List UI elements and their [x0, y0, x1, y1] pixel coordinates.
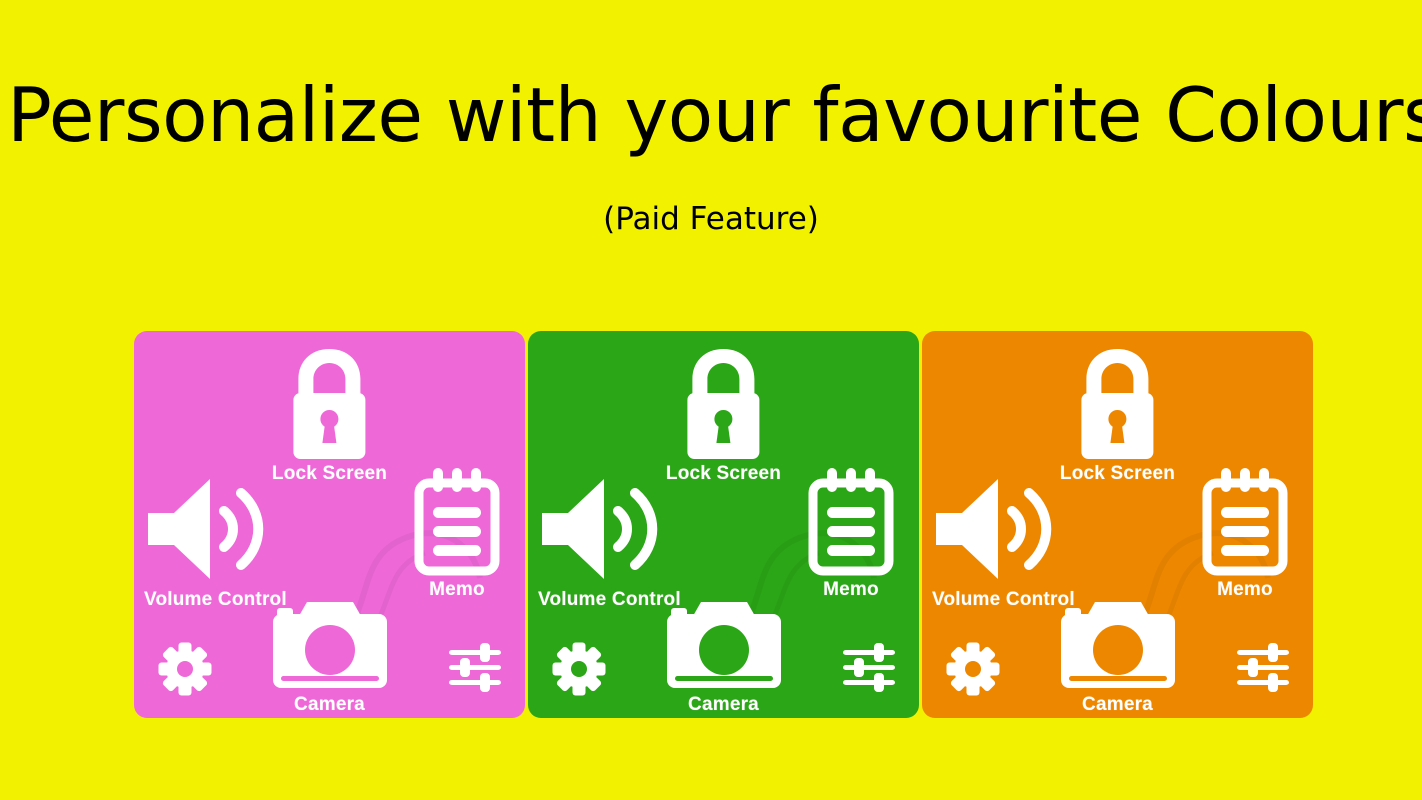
gear-icon[interactable]: [946, 642, 1000, 696]
lock-icon: [283, 343, 375, 461]
tile-label: Lock Screen: [1060, 463, 1175, 485]
sliders-icon[interactable]: [841, 642, 897, 692]
tile-speaker[interactable]: Volume Control: [538, 471, 681, 611]
tile-camera[interactable]: Camera: [663, 598, 785, 716]
lock-icon: [677, 343, 769, 461]
camera-icon: [1057, 598, 1179, 692]
tile-label: Memo: [429, 579, 485, 601]
tile-label: Memo: [1217, 579, 1273, 601]
theme-card-row: Lock ScreenVolume ControlMemoCameraLock …: [134, 331, 1306, 718]
tile-camera[interactable]: Camera: [269, 598, 391, 716]
tile-speaker[interactable]: Volume Control: [144, 471, 287, 611]
page-subtitle: (Paid Feature): [0, 201, 1422, 237]
speaker-icon: [144, 471, 270, 587]
notepad-icon: [411, 465, 503, 577]
tile-label: Volume Control: [144, 589, 287, 611]
tile-lock[interactable]: Lock Screen: [272, 343, 387, 485]
gear-icon[interactable]: [158, 642, 212, 696]
tile-label: Camera: [1082, 694, 1153, 716]
tile-label: Camera: [688, 694, 759, 716]
speaker-icon: [932, 471, 1058, 587]
orange-theme-card[interactable]: Lock ScreenVolume ControlMemoCamera: [922, 331, 1313, 718]
header: Personalize with your favourite Colours …: [0, 0, 1422, 237]
tile-camera[interactable]: Camera: [1057, 598, 1179, 716]
sliders-icon[interactable]: [447, 642, 503, 692]
notepad-icon: [805, 465, 897, 577]
tile-label: Camera: [294, 694, 365, 716]
page-title: Personalize with your favourite Colours: [7, 78, 1415, 153]
sliders-icon[interactable]: [1235, 642, 1291, 692]
lock-icon: [1071, 343, 1163, 461]
tile-notepad[interactable]: Memo: [1199, 465, 1291, 601]
gear-icon[interactable]: [552, 642, 606, 696]
tile-notepad[interactable]: Memo: [411, 465, 503, 601]
tile-label: Memo: [823, 579, 879, 601]
tile-label: Lock Screen: [272, 463, 387, 485]
tile-label: Volume Control: [932, 589, 1075, 611]
tile-speaker[interactable]: Volume Control: [932, 471, 1075, 611]
tile-label: Volume Control: [538, 589, 681, 611]
pink-theme-card[interactable]: Lock ScreenVolume ControlMemoCamera: [134, 331, 525, 718]
tile-lock[interactable]: Lock Screen: [1060, 343, 1175, 485]
tile-label: Lock Screen: [666, 463, 781, 485]
camera-icon: [663, 598, 785, 692]
speaker-icon: [538, 471, 664, 587]
notepad-icon: [1199, 465, 1291, 577]
tile-notepad[interactable]: Memo: [805, 465, 897, 601]
tile-lock[interactable]: Lock Screen: [666, 343, 781, 485]
green-theme-card[interactable]: Lock ScreenVolume ControlMemoCamera: [528, 331, 919, 718]
camera-icon: [269, 598, 391, 692]
